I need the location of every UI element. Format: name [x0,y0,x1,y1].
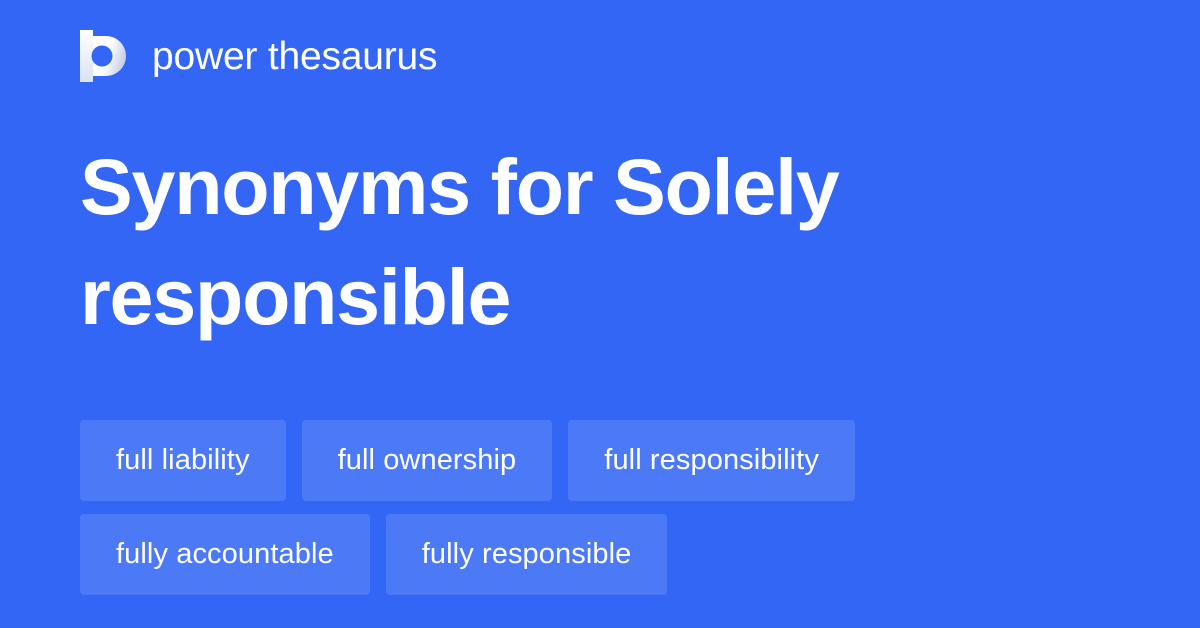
synonym-chip[interactable]: fully accountable [80,514,370,595]
synonym-chip[interactable]: fully responsible [386,514,668,595]
synonym-chip[interactable]: full ownership [302,420,553,501]
power-thesaurus-b-logo-icon [80,30,126,82]
page-canvas: power thesaurus Synonyms for Solely resp… [0,0,1200,628]
brand-name: power thesaurus [152,37,437,76]
brand-lockup[interactable]: power thesaurus [80,28,437,84]
synonym-chip[interactable]: full liability [80,420,286,501]
synonym-chip[interactable]: full responsibility [568,420,855,501]
synonym-chip-list: full liability full ownership full respo… [80,420,1140,595]
page-title: Synonyms for Solely responsible [80,132,1120,352]
